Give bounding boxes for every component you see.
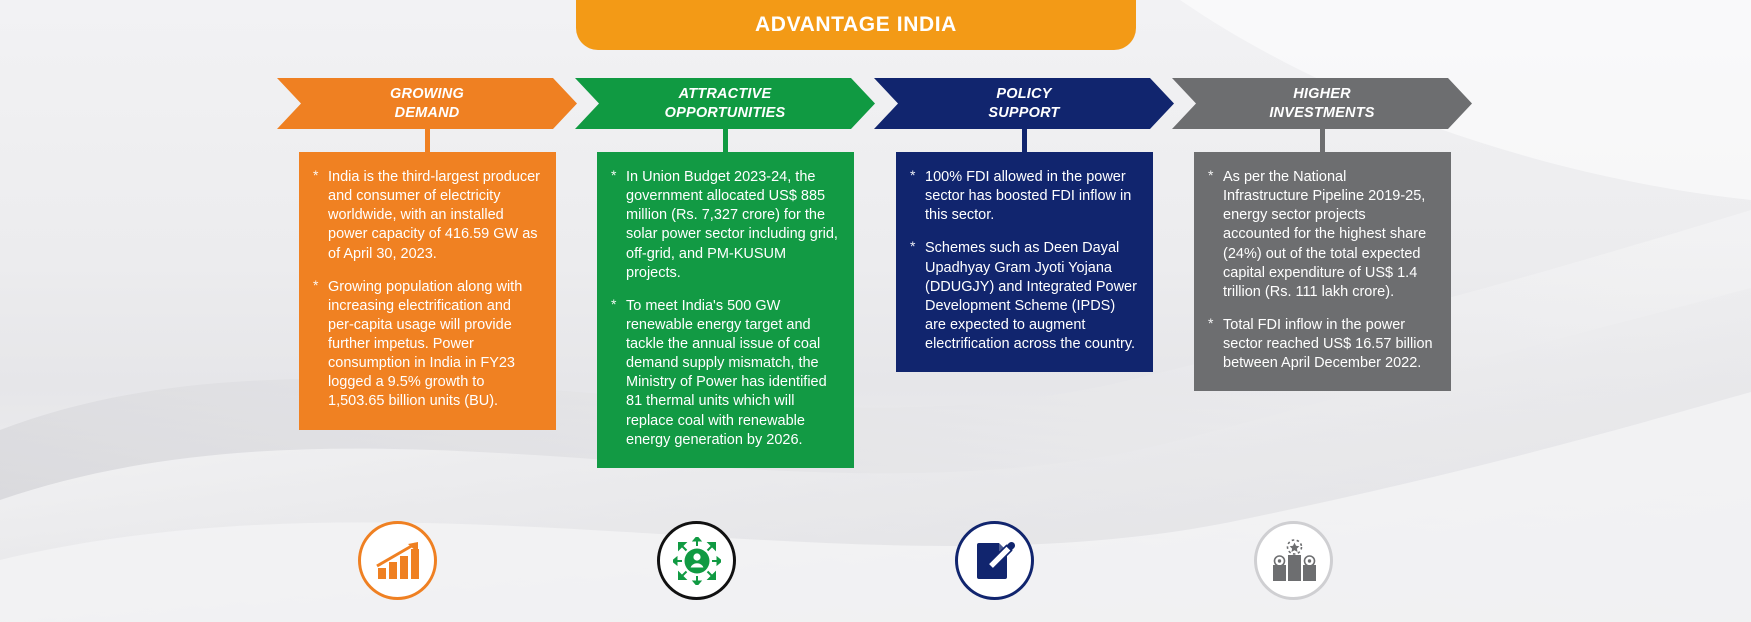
column-policy-support: POLICY SUPPORT * 100% FDI allowed in the… bbox=[874, 78, 1174, 372]
list-item: * Growing population along with increasi… bbox=[313, 278, 540, 412]
column-growing-demand: GROWING DEMAND * India is the third-larg… bbox=[277, 78, 577, 430]
bullet-text: To meet India's 500 GW renewable energy … bbox=[626, 297, 838, 450]
bullet-text: Growing population along with increasing… bbox=[328, 278, 540, 412]
bullet-text: 100% FDI allowed in the power sector has… bbox=[925, 168, 1137, 225]
chevron-label-line2: DEMAND bbox=[390, 104, 464, 123]
chevron-label-line1: HIGHER bbox=[1269, 85, 1374, 104]
advantage-india-banner: ADVANTAGE INDIA bbox=[576, 0, 1136, 50]
content-panel-attractive-opportunities: * In Union Budget 2023-24, the governmen… bbox=[597, 152, 854, 468]
bullet-star-icon: * bbox=[910, 168, 925, 183]
bullet-star-icon: * bbox=[910, 239, 925, 254]
content-panel-policy-support: * 100% FDI allowed in the power sector h… bbox=[896, 152, 1153, 372]
list-item: * 100% FDI allowed in the power sector h… bbox=[910, 168, 1137, 225]
bullet-text: Schemes such as Deen Dayal Upadhyay Gram… bbox=[925, 239, 1137, 354]
chevron-label-line1: ATTRACTIVE bbox=[665, 85, 786, 104]
icon-circle-policy-support bbox=[955, 521, 1034, 600]
chevron-label: POLICY SUPPORT bbox=[960, 85, 1087, 122]
bullet-list: * 100% FDI allowed in the power sector h… bbox=[910, 168, 1137, 354]
connector-stem bbox=[425, 129, 430, 152]
chevron-label-line2: OPPORTUNITIES bbox=[665, 104, 786, 123]
bullet-star-icon: * bbox=[611, 168, 626, 183]
list-item: * Total FDI inflow in the power sector r… bbox=[1208, 316, 1435, 373]
list-item: * To meet India's 500 GW renewable energ… bbox=[611, 297, 838, 450]
content-panel-higher-investments: * As per the National Infrastructure Pip… bbox=[1194, 152, 1451, 391]
bullet-star-icon: * bbox=[611, 297, 626, 312]
bullet-list: * As per the National Infrastructure Pip… bbox=[1208, 168, 1435, 373]
content-panel-growing-demand: * India is the third-largest producer an… bbox=[299, 152, 556, 430]
bullet-text: In Union Budget 2023-24, the government … bbox=[626, 168, 838, 283]
column-attractive-opportunities: ATTRACTIVE OPPORTUNITIES * In Union Budg… bbox=[575, 78, 875, 468]
bullet-star-icon: * bbox=[313, 168, 328, 183]
chevron-label: HIGHER INVESTMENTS bbox=[1241, 85, 1402, 122]
list-item: * As per the National Infrastructure Pip… bbox=[1208, 168, 1435, 302]
icon-circle-attractive-opportunities bbox=[657, 521, 736, 600]
chevron-label-line2: INVESTMENTS bbox=[1269, 104, 1374, 123]
list-item: * India is the third-largest producer an… bbox=[313, 168, 540, 264]
chevron-header-policy-support[interactable]: POLICY SUPPORT bbox=[874, 78, 1174, 129]
bullet-text: Total FDI inflow in the power sector rea… bbox=[1223, 316, 1435, 373]
connector-stem bbox=[1320, 129, 1325, 152]
podium-star-icon bbox=[1270, 539, 1318, 583]
bullet-list: * In Union Budget 2023-24, the governmen… bbox=[611, 168, 838, 450]
chevron-label-line2: SUPPORT bbox=[988, 104, 1059, 123]
list-item: * Schemes such as Deen Dayal Upadhyay Gr… bbox=[910, 239, 1137, 354]
column-higher-investments: HIGHER INVESTMENTS * As per the National… bbox=[1172, 78, 1472, 391]
document-pencil-icon bbox=[973, 539, 1017, 583]
icon-circle-higher-investments bbox=[1254, 521, 1333, 600]
connector-stem bbox=[1022, 129, 1027, 152]
bullet-star-icon: * bbox=[1208, 168, 1223, 183]
icon-circle-growing-demand bbox=[358, 521, 437, 600]
bullet-list: * India is the third-largest producer an… bbox=[313, 168, 540, 412]
people-expansion-icon bbox=[673, 537, 721, 585]
chevron-label-line1: POLICY bbox=[988, 85, 1059, 104]
bullet-star-icon: * bbox=[1208, 316, 1223, 331]
bullet-text: India is the third-largest producer and … bbox=[328, 168, 540, 264]
chevron-label: GROWING DEMAND bbox=[362, 85, 492, 122]
chevron-label: ATTRACTIVE OPPORTUNITIES bbox=[637, 85, 814, 122]
page-title: ADVANTAGE INDIA bbox=[755, 13, 957, 37]
chevron-header-growing-demand[interactable]: GROWING DEMAND bbox=[277, 78, 577, 129]
list-item: * In Union Budget 2023-24, the governmen… bbox=[611, 168, 838, 283]
bullet-text: As per the National Infrastructure Pipel… bbox=[1223, 168, 1435, 302]
connector-stem bbox=[723, 129, 728, 152]
chevron-label-line1: GROWING bbox=[390, 85, 464, 104]
growth-chart-icon bbox=[375, 540, 421, 582]
chevron-header-attractive-opportunities[interactable]: ATTRACTIVE OPPORTUNITIES bbox=[575, 78, 875, 129]
chevron-header-higher-investments[interactable]: HIGHER INVESTMENTS bbox=[1172, 78, 1472, 129]
bullet-star-icon: * bbox=[313, 278, 328, 293]
